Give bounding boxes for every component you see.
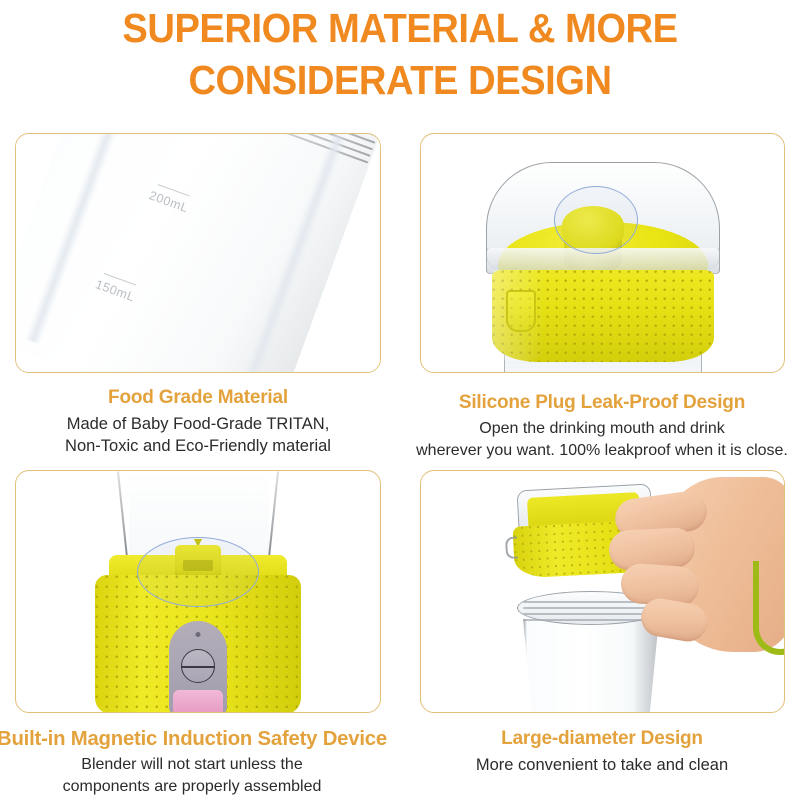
feature-panel-frame <box>420 470 785 713</box>
product-image-tritan-jar: 200mL 150mL <box>16 134 380 372</box>
tritan-jar-illustration: 200mL 150mL <box>16 134 380 372</box>
jar-wall-left <box>117 471 129 567</box>
caption-heading: Large-diameter Design <box>404 726 800 751</box>
product-image-lid-closeup <box>421 134 784 372</box>
highlight-ellipse-icon <box>137 537 259 607</box>
product-image-motor-base <box>16 471 380 712</box>
page-title: SUPERIOR MATERIAL & MORE CONSIDERATE DES… <box>0 2 800 106</box>
status-led-icon <box>196 632 201 637</box>
caption-heading: Silicone Plug Leak-Proof Design <box>404 390 800 415</box>
feature-panel-frame <box>15 470 381 713</box>
feature-card-large-diameter <box>420 470 785 713</box>
caption-silicone-plug: Silicone Plug Leak-Proof Design Open the… <box>404 390 800 462</box>
product-image-hand-with-lid <box>421 471 784 712</box>
feature-panel-frame: 200mL 150mL <box>15 133 381 373</box>
caption-large-diameter: Large-diameter Design More convenient to… <box>404 726 800 776</box>
title-line-2: CONSIDERATE DESIGN <box>28 54 772 106</box>
infographic-page: SUPERIOR MATERIAL & MORE CONSIDERATE DES… <box>0 0 800 800</box>
caption-magnetic-induction: Built-in Magnetic Induction Safety Devic… <box>0 726 392 798</box>
caption-heading: Built-in Magnetic Induction Safety Devic… <box>0 726 390 751</box>
caption-body: Open the drinking mouth and drink wherev… <box>404 418 800 462</box>
caption-body: Blender will not start unless the compon… <box>0 754 392 798</box>
feature-panel-frame <box>420 133 785 373</box>
lid-hook-icon <box>505 537 518 560</box>
caption-food-grade-material: Food Grade Material Made of Baby Food-Gr… <box>8 385 388 457</box>
hand-illustration <box>607 477 784 667</box>
title-line-1: SUPERIOR MATERIAL & MORE <box>28 2 772 54</box>
lid-assembly-illustration <box>478 162 728 372</box>
lid-latch-tab <box>506 290 536 332</box>
caption-body: Made of Baby Food-Grade TRITAN, Non-Toxi… <box>8 413 388 457</box>
motor-base-illustration <box>53 471 343 712</box>
indicator-strip <box>173 690 223 712</box>
highlight-ellipse-icon <box>554 186 638 254</box>
power-button[interactable] <box>181 649 215 683</box>
carry-strap <box>753 561 784 655</box>
feature-card-silicone-plug <box>420 133 785 373</box>
caption-heading: Food Grade Material <box>8 385 388 410</box>
feature-card-magnetic-induction <box>15 470 381 713</box>
feature-card-food-grade-material: 200mL 150mL <box>15 133 381 373</box>
caption-body: More convenient to take and clean <box>404 754 800 776</box>
